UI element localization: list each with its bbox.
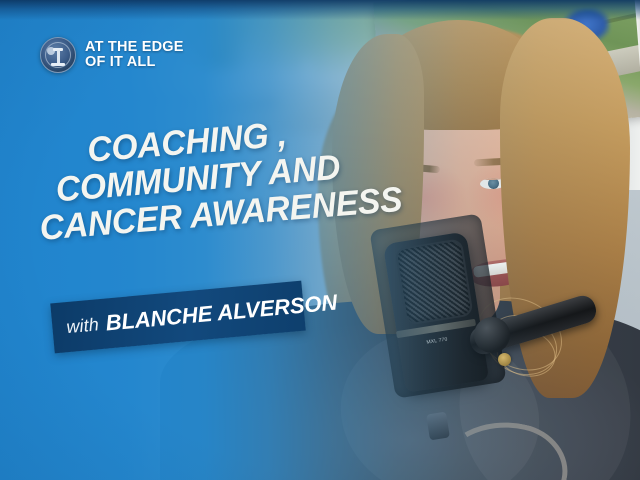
university-seal-icon [40,37,76,73]
guest-prefix: with [66,314,100,338]
video-thumbnail: MXL 770 AT THE EDGE OF IT ALL COACHING ,… [0,0,640,480]
brand-name: AT THE EDGE OF IT ALL [85,40,184,71]
seal-base [51,63,65,66]
seal-dome [47,47,55,55]
guest-name: BLANCHE ALVERSON [105,290,339,337]
seal-column-cap [53,48,63,51]
seal-column [57,50,60,64]
brand-lockup: AT THE EDGE OF IT ALL [40,37,184,73]
